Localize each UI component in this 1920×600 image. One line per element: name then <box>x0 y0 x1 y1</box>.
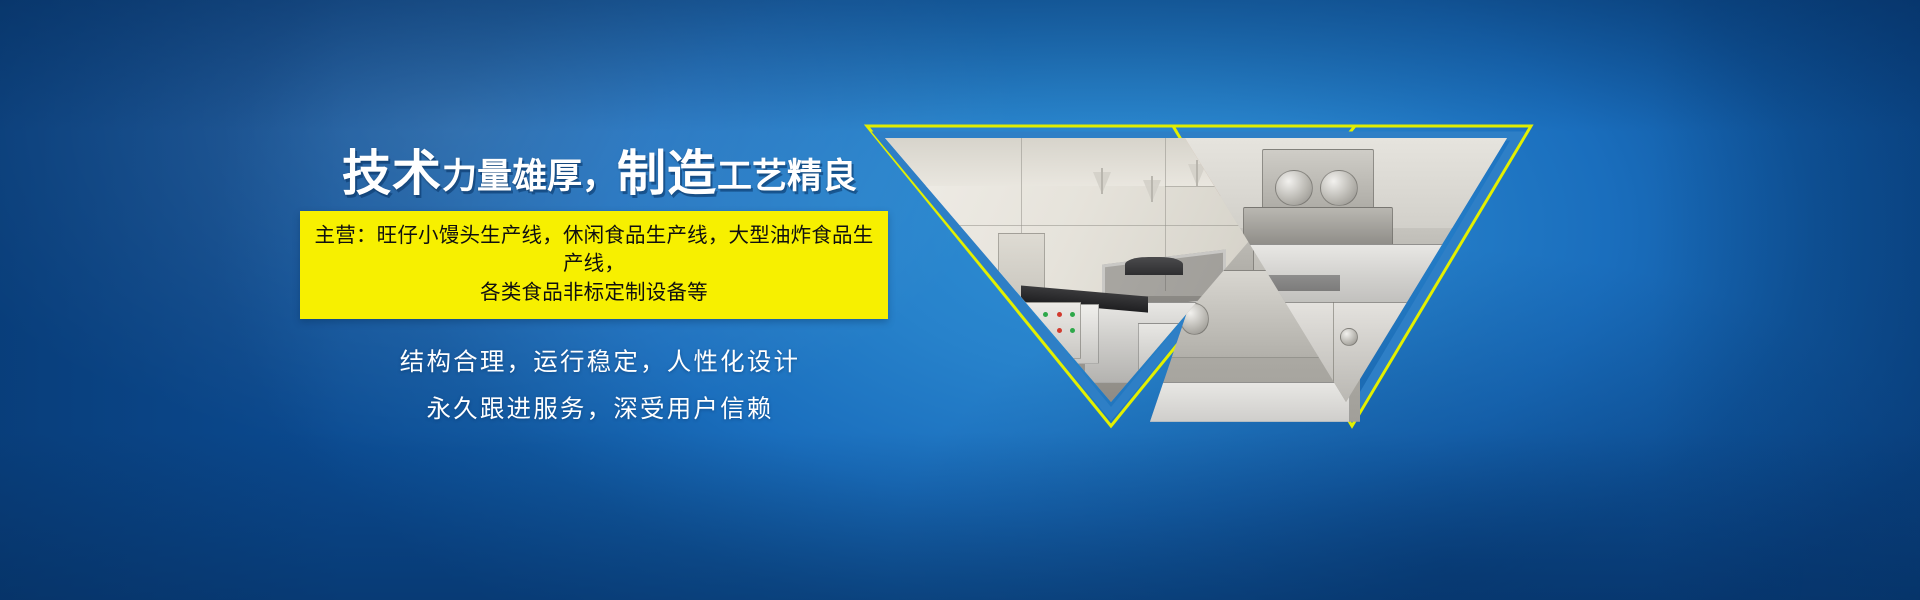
subtitle-line-1: 结构合理，运行稳定，人性化设计 <box>300 345 900 381</box>
headline-segment-3: 制造 <box>617 147 717 201</box>
highlight-line-2: 各类食品非标定制设备等 <box>314 279 874 307</box>
banner-copy: 技术力量雄厚，制造工艺精良 主营：旺仔小馒头生产线，休闲食品生产线，大型油炸食品… <box>300 150 900 428</box>
promo-banner: 技术力量雄厚，制造工艺精良 主营：旺仔小馒头生产线，休闲食品生产线，大型油炸食品… <box>0 0 1920 600</box>
highlight-line-1: 主营：旺仔小馒头生产线，休闲食品生产线，大型油炸食品生产线， <box>314 222 874 279</box>
subtitle-line-2: 永久跟进服务，深受用户信赖 <box>300 392 900 428</box>
banner-headline: 技术力量雄厚，制造工艺精良 <box>342 150 900 199</box>
headline-segment-2: 力量雄厚， <box>442 157 617 196</box>
highlight-banner: 主营：旺仔小馒头生产线，休闲食品生产线，大型油炸食品生产线， 各类食品非标定制设… <box>300 211 888 319</box>
highlight-banner-wrap: 主营：旺仔小馒头生产线，休闲食品生产线，大型油炸食品生产线， 各类食品非标定制设… <box>300 211 900 319</box>
headline-segment-1: 技术 <box>342 147 442 201</box>
banner-subtitles: 结构合理，运行稳定，人性化设计 永久跟进服务，深受用户信赖 <box>300 345 900 428</box>
headline-segment-4: 工艺精良 <box>717 157 857 196</box>
image-collage <box>855 108 1555 438</box>
